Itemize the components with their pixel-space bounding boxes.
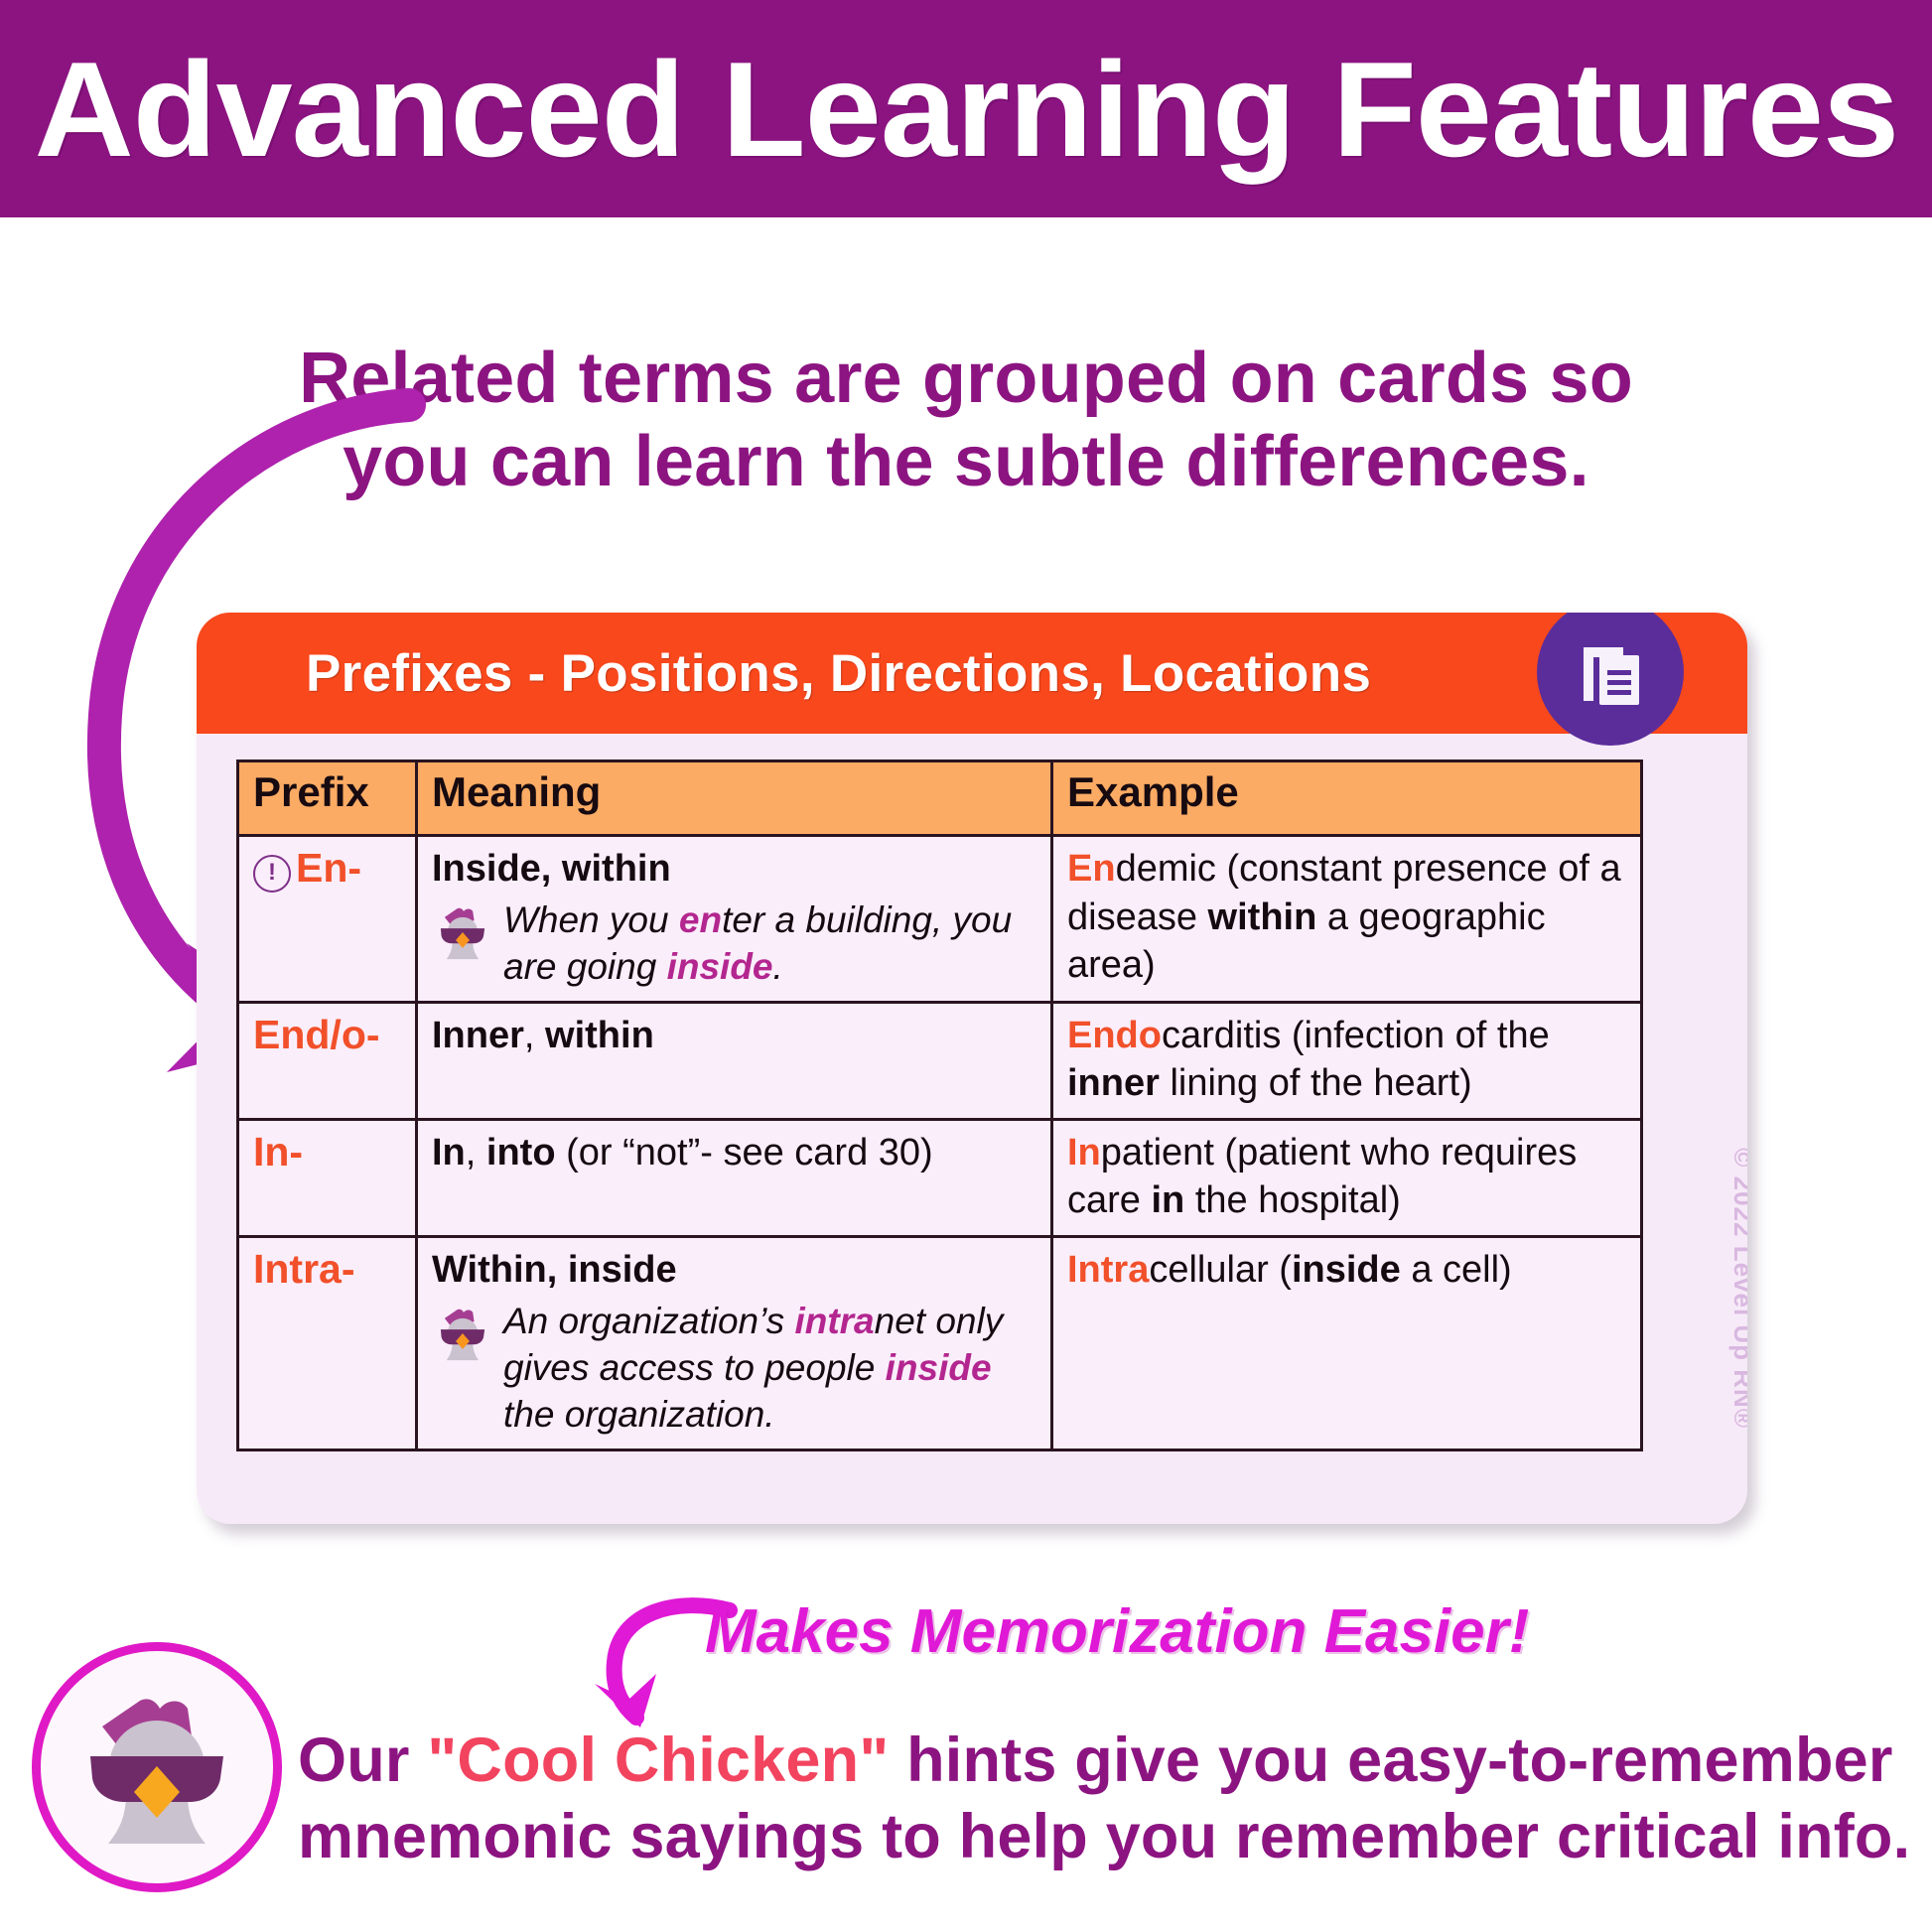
exclamation-circle-icon: !: [253, 855, 291, 893]
table-row: Intra-Within, insideAn organization’s in…: [238, 1237, 1642, 1450]
cell-prefix: In-: [238, 1119, 417, 1236]
copyright-notice: © 2022 Level Up RN®: [1727, 1148, 1747, 1429]
cell-meaning: In, into (or “not”- see card 30): [417, 1119, 1052, 1236]
cell-meaning: Inner, within: [417, 1002, 1052, 1119]
table-row: End/o-Inner, withinEndocarditis (infecti…: [238, 1002, 1642, 1119]
cell-example: Endocarditis (infection of the inner lin…: [1052, 1002, 1642, 1119]
prefix-table: Prefix Meaning Example !En-Inside, withi…: [236, 759, 1643, 1451]
flashcard-body: Prefix Meaning Example !En-Inside, withi…: [197, 734, 1747, 1524]
bottom-line-2: mnemonic sayings to help you remember cr…: [298, 1799, 1916, 1875]
bottom-line-1: Our "Cool Chicken" hints give you easy-t…: [298, 1723, 1916, 1799]
cool-chicken-hint-text: An organization’s intranet only gives ac…: [503, 1299, 1038, 1439]
table-header-row: Prefix Meaning Example: [238, 761, 1642, 836]
flashcard[interactable]: Prefixes - Positions, Directions, Locati…: [197, 613, 1747, 1524]
table-row: !En-Inside, withinWhen you enter a build…: [238, 836, 1642, 1003]
cool-chicken-icon: [432, 903, 493, 969]
cool-chicken-label: "Cool Chicken": [427, 1725, 889, 1795]
cell-prefix: !En-: [238, 836, 417, 1003]
page-title: Advanced Learning Features: [34, 42, 1898, 177]
column-header-meaning: Meaning: [417, 761, 1052, 836]
bottom-description: Our "Cool Chicken" hints give you easy-t…: [298, 1723, 1916, 1875]
subheadline-line-2: you can learn the subtle differences.: [0, 421, 1932, 504]
copy-documents-icon: [1537, 613, 1684, 746]
page-banner: Advanced Learning Features: [0, 0, 1932, 217]
table-row: In-In, into (or “not”- see card 30)Inpat…: [238, 1119, 1642, 1236]
cell-meaning: Within, insideAn organization’s intranet…: [417, 1237, 1052, 1450]
column-header-example: Example: [1052, 761, 1642, 836]
cell-prefix: Intra-: [238, 1237, 417, 1450]
bottom-line-1-prefix: Our: [298, 1725, 427, 1795]
memorization-callout: Makes Memorization Easier!: [705, 1596, 1529, 1667]
bottom-line-1-suffix: hints give you easy-to-remember: [889, 1725, 1892, 1795]
subheadline: Related terms are grouped on cards so yo…: [0, 338, 1932, 503]
cell-example: Endemic (constant presence of a disease …: [1052, 836, 1642, 1003]
cell-example: Intracellular (inside a cell): [1052, 1237, 1642, 1450]
cool-chicken-hint: An organization’s intranet only gives ac…: [432, 1299, 1038, 1439]
cell-prefix: End/o-: [238, 1002, 417, 1119]
cell-meaning: Inside, withinWhen you enter a building,…: [417, 836, 1052, 1003]
cool-chicken-icon: [432, 1305, 493, 1370]
cool-chicken-hint: When you enter a building, you are going…: [432, 897, 1038, 991]
flashcard-title: Prefixes - Positions, Directions, Locati…: [306, 643, 1371, 704]
table-body: !En-Inside, withinWhen you enter a build…: [238, 836, 1642, 1450]
cool-chicken-hint-text: When you enter a building, you are going…: [503, 897, 1038, 991]
column-header-prefix: Prefix: [238, 761, 417, 836]
subheadline-line-1: Related terms are grouped on cards so: [0, 338, 1932, 421]
cell-example: Inpatient (patient who requires care in …: [1052, 1119, 1642, 1236]
flashcard-header: Prefixes - Positions, Directions, Locati…: [197, 613, 1747, 734]
cool-chicken-logo-icon: [32, 1642, 282, 1892]
